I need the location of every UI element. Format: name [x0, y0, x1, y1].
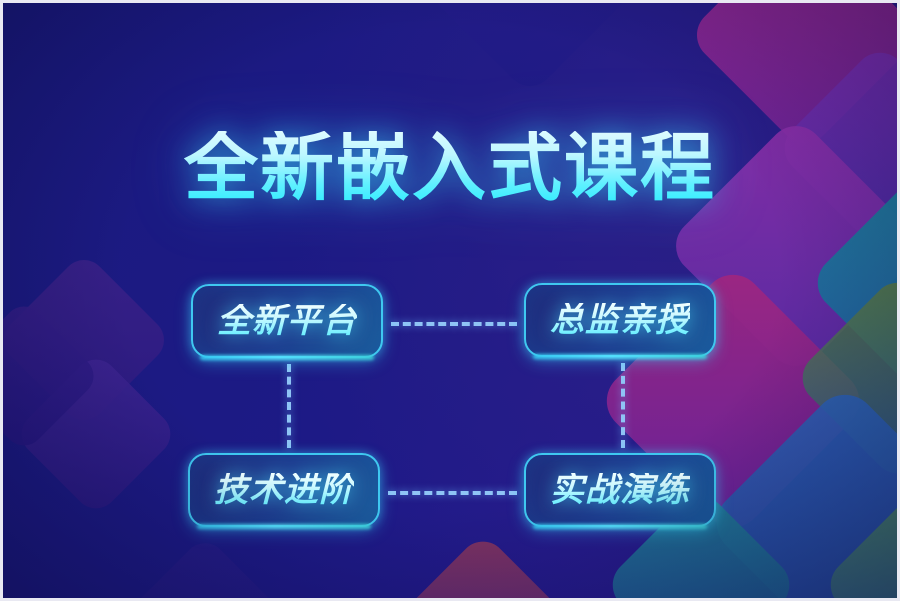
feature-node-label: 技术进阶 — [214, 473, 354, 507]
poster-stage: 全新嵌入式课程 全新平台 总监亲授 技术进阶 实战演练 — [3, 3, 897, 598]
feature-node-label: 总监亲授 — [550, 303, 690, 337]
connector-right-vertical — [621, 363, 625, 448]
feature-node-practical-drill[interactable]: 实战演练 — [524, 453, 716, 527]
feature-node-label: 全新平台 — [217, 304, 357, 338]
feature-node-label: 实战演练 — [550, 473, 690, 507]
feature-node-director-teaching[interactable]: 总监亲授 — [524, 283, 716, 357]
connector-left-vertical — [287, 364, 291, 448]
feature-flow-diagram: 全新平台 总监亲授 技术进阶 实战演练 — [3, 3, 897, 598]
connector-top-horizontal — [391, 322, 517, 326]
poster-canvas: 全新嵌入式课程 全新平台 总监亲授 技术进阶 实战演练 — [0, 0, 900, 601]
feature-node-new-platform[interactable]: 全新平台 — [191, 284, 383, 358]
connector-bottom-horizontal — [388, 491, 517, 495]
feature-node-tech-advancement[interactable]: 技术进阶 — [188, 453, 380, 527]
